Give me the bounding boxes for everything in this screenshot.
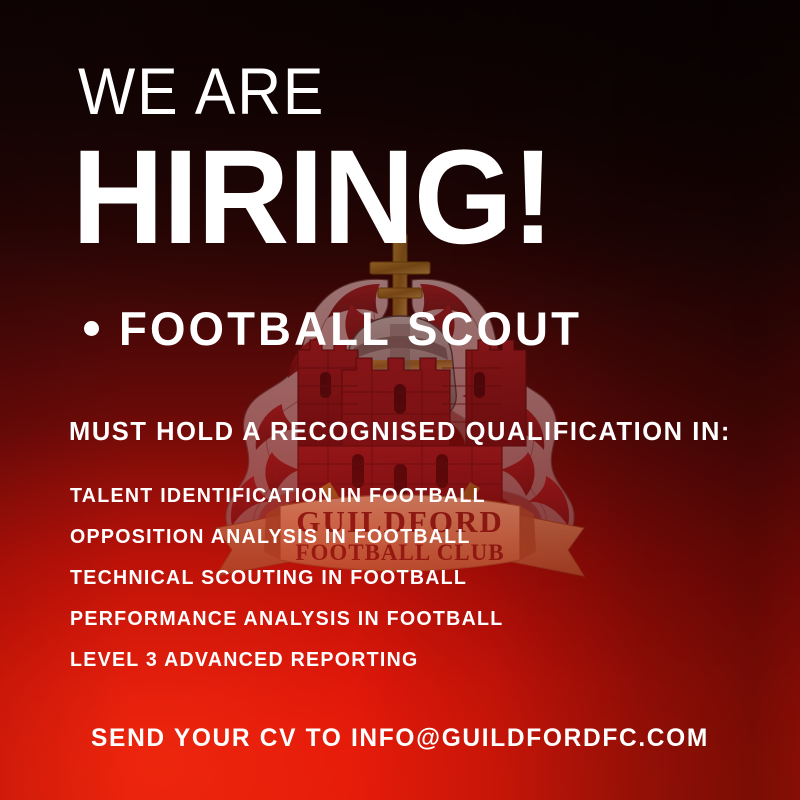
role-listing: FOOTBALL SCOUT [84, 305, 596, 352]
list-item: TALENT IDENTIFICATION IN FOOTBALL [70, 486, 504, 527]
list-item: OPPOSITION ANALYSIS IN FOOTBALL [70, 527, 504, 568]
list-item: TECHNICAL SCOUTING IN FOOTBALL [70, 568, 504, 609]
qualifications-heading: MUST HOLD A RECOGNISED QUALIFICATION IN: [8, 418, 792, 444]
poster-content: WE ARE HIRING! FOOTBALL SCOUT MUST HOLD … [0, 0, 800, 800]
list-item: LEVEL 3 ADVANCED REPORTING [70, 650, 504, 691]
list-item: PERFORMANCE ANALYSIS IN FOOTBALL [70, 609, 504, 650]
eyebrow-text: WE ARE [78, 58, 325, 124]
hiring-poster: GUILDFORD FOOTBALL CLUB WE ARE HIRING! F… [0, 0, 800, 800]
role-label: FOOTBALL SCOUT [119, 305, 582, 352]
page-title: HIRING! [72, 131, 553, 265]
bullet-dot-icon [84, 321, 99, 336]
qualifications-list: TALENT IDENTIFICATION IN FOOTBALL OPPOSI… [70, 486, 512, 691]
call-to-action-text: SEND YOUR CV TO INFO@GUILDFORDFC.COM [8, 726, 792, 751]
